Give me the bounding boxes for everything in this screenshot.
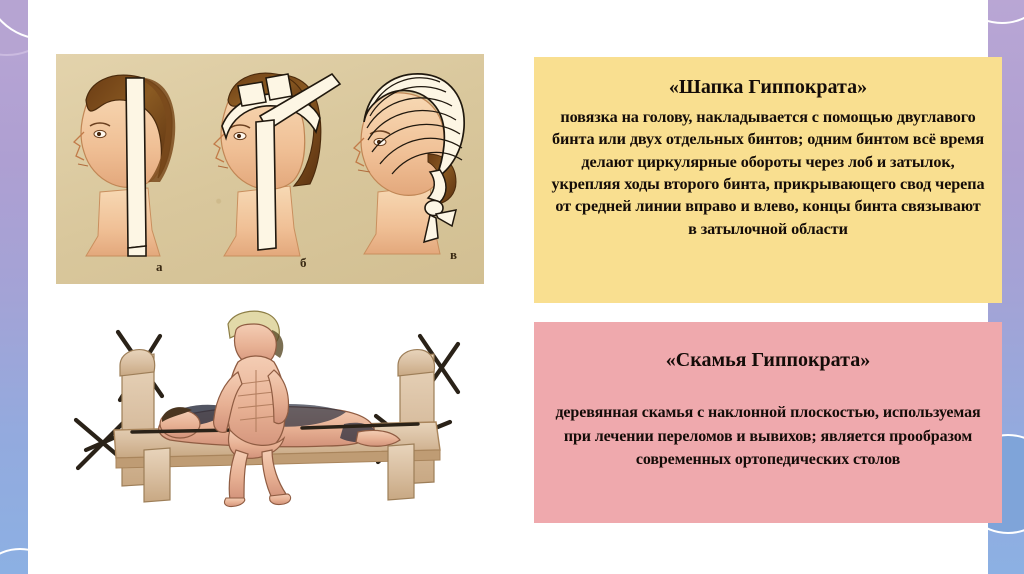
slide-content-sheet: а б в	[28, 0, 988, 574]
hippocratic-bench-engraving	[58, 300, 484, 512]
hippocratic-bench-description: деревянная скамья с наклонной плоскостью…	[550, 401, 986, 472]
left-decorative-band	[0, 0, 28, 574]
hippocratic-bench-panel: «Скамья Гиппократа» деревянная скамья с …	[534, 322, 1002, 523]
hippocratic-bench-title: «Скамья Гиппократа»	[550, 348, 986, 373]
figure-label-v: в	[450, 247, 457, 263]
figure-label-a: а	[156, 259, 163, 275]
hippocratic-cap-bandage-diagram: а б в	[56, 54, 484, 284]
hippocratic-cap-description: повязка на голову, накладывается с помощ…	[550, 106, 986, 240]
figure-label-b: б	[300, 255, 307, 271]
hippocratic-cap-panel: «Шапка Гиппократа» повязка на голову, на…	[534, 57, 1002, 303]
hippocratic-cap-title: «Шапка Гиппократа»	[550, 75, 986, 100]
slide-canvas: а б в	[0, 0, 1024, 574]
